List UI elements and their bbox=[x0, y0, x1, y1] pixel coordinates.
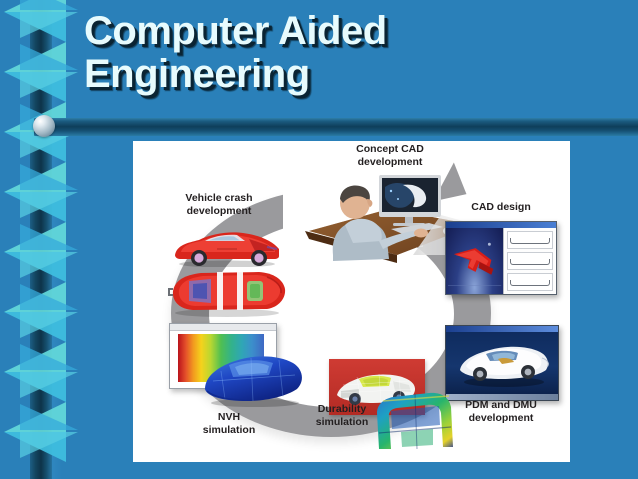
stage-label-cad-design: CAD design bbox=[449, 201, 553, 214]
red-sports-car-side-image bbox=[171, 225, 283, 267]
cad-window-body bbox=[446, 228, 556, 294]
title-divider-bar bbox=[34, 118, 638, 136]
cad-3d-viewport bbox=[446, 228, 503, 294]
cad-drawing-view bbox=[507, 252, 553, 270]
slide-title: Computer Aided Engineering bbox=[84, 10, 604, 96]
ribbon-zigzag-segment bbox=[0, 402, 86, 462]
pdm-dmu-window-image bbox=[445, 325, 559, 401]
cad-drawing-view bbox=[507, 273, 553, 291]
nvh-plot-titlebar bbox=[170, 324, 276, 331]
decorative-ribbon-band bbox=[0, 0, 86, 479]
ribbon-zigzag-segment bbox=[0, 42, 86, 102]
blue-car-mesh-image bbox=[199, 347, 309, 409]
ribbon-zigzag-segment bbox=[0, 162, 86, 222]
red-car-crash-top-view-image bbox=[167, 265, 289, 317]
cad-design-window-image bbox=[445, 221, 557, 295]
cad-drawing-view bbox=[507, 231, 553, 249]
presentation-slide: Computer Aided Engineering Vehicle crash… bbox=[0, 0, 638, 479]
diagram-panel: Vehicle crash development bbox=[133, 141, 570, 462]
cad-2d-drawings-pane bbox=[503, 228, 556, 294]
stage-label-concept-cad: Concept CAD development bbox=[330, 143, 450, 169]
ribbon-zigzag-segment bbox=[0, 222, 86, 282]
stage-label-vehicle-crash: Vehicle crash development bbox=[165, 192, 273, 218]
ribbon-zigzag-segment bbox=[0, 282, 86, 342]
divider-bullet-sphere bbox=[33, 115, 55, 137]
silver-car-digital-mockup bbox=[446, 332, 558, 394]
stage-label-nvh: NVH simulation bbox=[179, 411, 279, 437]
red-part-geometry bbox=[446, 228, 503, 294]
ribbon-zigzag-segment bbox=[0, 0, 86, 42]
stage-label-pdm-dmu: PDM and DMU development bbox=[441, 399, 561, 425]
ribbon-zigzag-segment bbox=[0, 342, 86, 402]
